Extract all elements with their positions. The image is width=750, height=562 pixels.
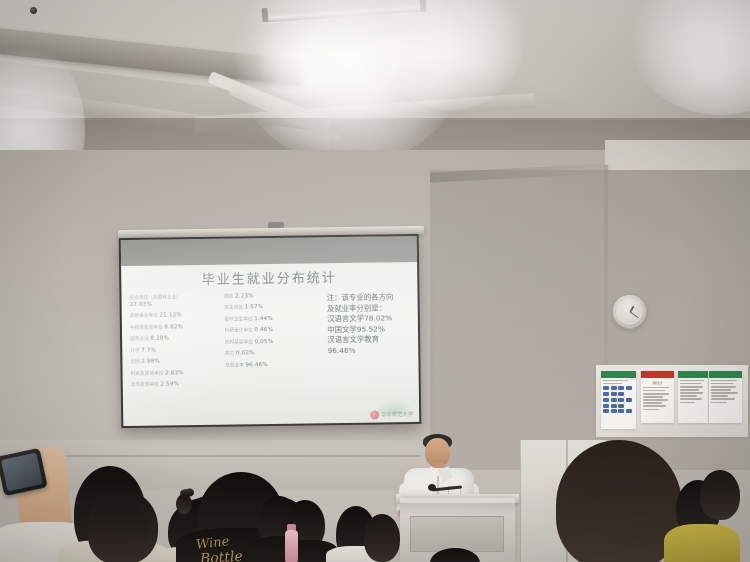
slide-bullet: 高等教育单位 2.59%	[131, 382, 222, 389]
slide-note-column: 注：该专业的各方向 及就业率分别是： 汉语言文学78.02% 中国文学95.52…	[327, 292, 413, 392]
bullet-value: 1.44%	[254, 316, 273, 322]
slide-bullet: 其它 0.02%	[225, 351, 324, 358]
slide-bullet: 机关及其他单位 2.83%	[131, 370, 222, 377]
university-seal-icon	[370, 410, 379, 419]
bullet-label: 总就业率	[225, 363, 244, 368]
clock-minute-hand	[629, 311, 638, 318]
bullet-label: 其它	[225, 352, 234, 357]
bullet-label: 其他事业单位	[130, 314, 158, 319]
podium-shadow	[400, 503, 515, 515]
microphone-head	[428, 484, 436, 491]
audience-bun	[176, 494, 192, 514]
slide-bullet: 科研设计单位 0.46%	[225, 328, 324, 335]
screen-surface: 毕业生就业分布统计 企业单位（非国有企业） 27.03% 其他事业单位 21.1…	[121, 236, 420, 426]
slide-bullet: 国有企业 8.28%	[130, 336, 221, 343]
bullet-label: 出国	[130, 360, 139, 365]
slide-bullet: 自主创业 1.57%	[224, 305, 323, 312]
bullet-label: 升学	[130, 348, 139, 353]
bullet-value: 0.05%	[254, 339, 273, 345]
bullet-value: 1.57%	[245, 305, 264, 311]
bullet-label: 国有企业	[130, 337, 149, 342]
bullet-value: 2.98%	[141, 359, 160, 365]
bullet-value: 2.83%	[165, 370, 184, 376]
poster-fire-safety: 消防安全	[641, 371, 674, 423]
poster-header-red	[641, 371, 674, 378]
bullet-value: 0.02%	[236, 350, 255, 356]
note-line: 96.46%	[327, 345, 412, 357]
bullet-value: 96.46%	[245, 362, 268, 368]
bullet-label: 机关及其他单位	[131, 371, 164, 376]
poster-notice	[601, 371, 636, 429]
poster-body	[601, 378, 636, 413]
bullet-label: 农村基层单位	[225, 340, 253, 345]
audience-shoulders-yellow	[664, 524, 740, 562]
bullet-value: 0.46%	[254, 327, 273, 333]
slide-bullet: 升学 7.7%	[130, 347, 221, 354]
light-tube-end-right	[420, 0, 427, 12]
poster-body	[678, 378, 708, 403]
slide-bullet: 医疗卫生单位 1.44%	[224, 316, 323, 323]
poster-body	[709, 378, 742, 403]
slide-bullet: 部队 2.23%	[224, 293, 323, 300]
clock-face	[616, 298, 643, 325]
bullet-value: 2.23%	[235, 293, 254, 299]
projector-screen: 毕业生就业分布统计 企业单位（非国有企业） 27.03% 其他事业单位 21.1…	[119, 234, 422, 428]
bullet-value: 21.12%	[159, 313, 182, 319]
slide-bullet: 出国 2.98%	[130, 359, 221, 366]
slide-logo: 华中师范大学	[370, 410, 413, 420]
bullet-label: 中初等教育单位	[130, 325, 163, 330]
presentation-slide: 毕业生就业分布统计 企业单位（非国有企业） 27.03% 其他事业单位 21.1…	[121, 262, 419, 426]
bullet-value: 8.28%	[150, 336, 169, 342]
slide-bullet: 企业单位（非国有企业） 27.03%	[129, 295, 220, 309]
slide-column-left: 企业单位（非国有企业） 27.03% 其他事业单位 21.12% 中初等教育单位…	[129, 295, 221, 395]
wall-clock	[612, 294, 647, 329]
lecture-hall-photo: 消防安全	[0, 0, 750, 562]
bullet-value: 8.82%	[164, 324, 183, 330]
screen-top-band	[121, 236, 417, 266]
poster-header-green	[601, 371, 636, 378]
poster-body: 消防安全	[641, 378, 674, 410]
phone-screen	[1, 453, 43, 492]
bullet-value: 27.03%	[130, 301, 153, 307]
bullet-label: 科研设计单位	[225, 329, 253, 334]
bullet-label: 高等教育单位	[131, 383, 159, 388]
shirt-text-line2: Bottle	[199, 549, 243, 562]
slide-columns: 企业单位（非国有企业） 27.03% 其他事业单位 21.12% 中初等教育单位…	[129, 292, 412, 394]
phone-camera-lens	[30, 7, 37, 14]
audience-head	[700, 470, 740, 520]
poster-usage	[709, 371, 742, 423]
slide-column-middle: 部队 2.23% 自主创业 1.57% 医疗卫生单位 1.44% 科研设计单	[224, 293, 324, 393]
bullet-label: 企业单位（非国有企业）	[129, 295, 181, 301]
audience-head	[364, 514, 400, 562]
water-bottle	[285, 530, 298, 562]
slide-logo-text: 华中师范大学	[381, 411, 413, 418]
poster-header-green-2	[678, 371, 708, 378]
slide-bullet: 中初等教育单位 8.82%	[130, 324, 221, 331]
audience-head	[88, 500, 148, 562]
slide-bullet: 总就业率 96.46%	[225, 362, 324, 369]
poster-header-green-3	[709, 371, 742, 378]
poster-title: 消防安全	[643, 381, 672, 385]
light-tube-end-left	[262, 8, 269, 22]
bullet-value: 7.7%	[141, 347, 156, 353]
slide-bullet: 其他事业单位 21.12%	[130, 313, 221, 320]
bullet-label: 部队	[224, 295, 233, 300]
podium-front-panel	[410, 516, 504, 552]
poster-board: 消防安全	[596, 365, 748, 437]
bullet-label: 医疗卫生单位	[224, 317, 252, 322]
slide-bullet: 农村基层单位 0.05%	[225, 339, 324, 346]
slide-title: 毕业生就业分布统计	[121, 266, 417, 289]
bullet-value: 2.59%	[160, 381, 179, 387]
bullet-label: 自主创业	[224, 306, 243, 311]
poster-rules	[678, 371, 708, 423]
